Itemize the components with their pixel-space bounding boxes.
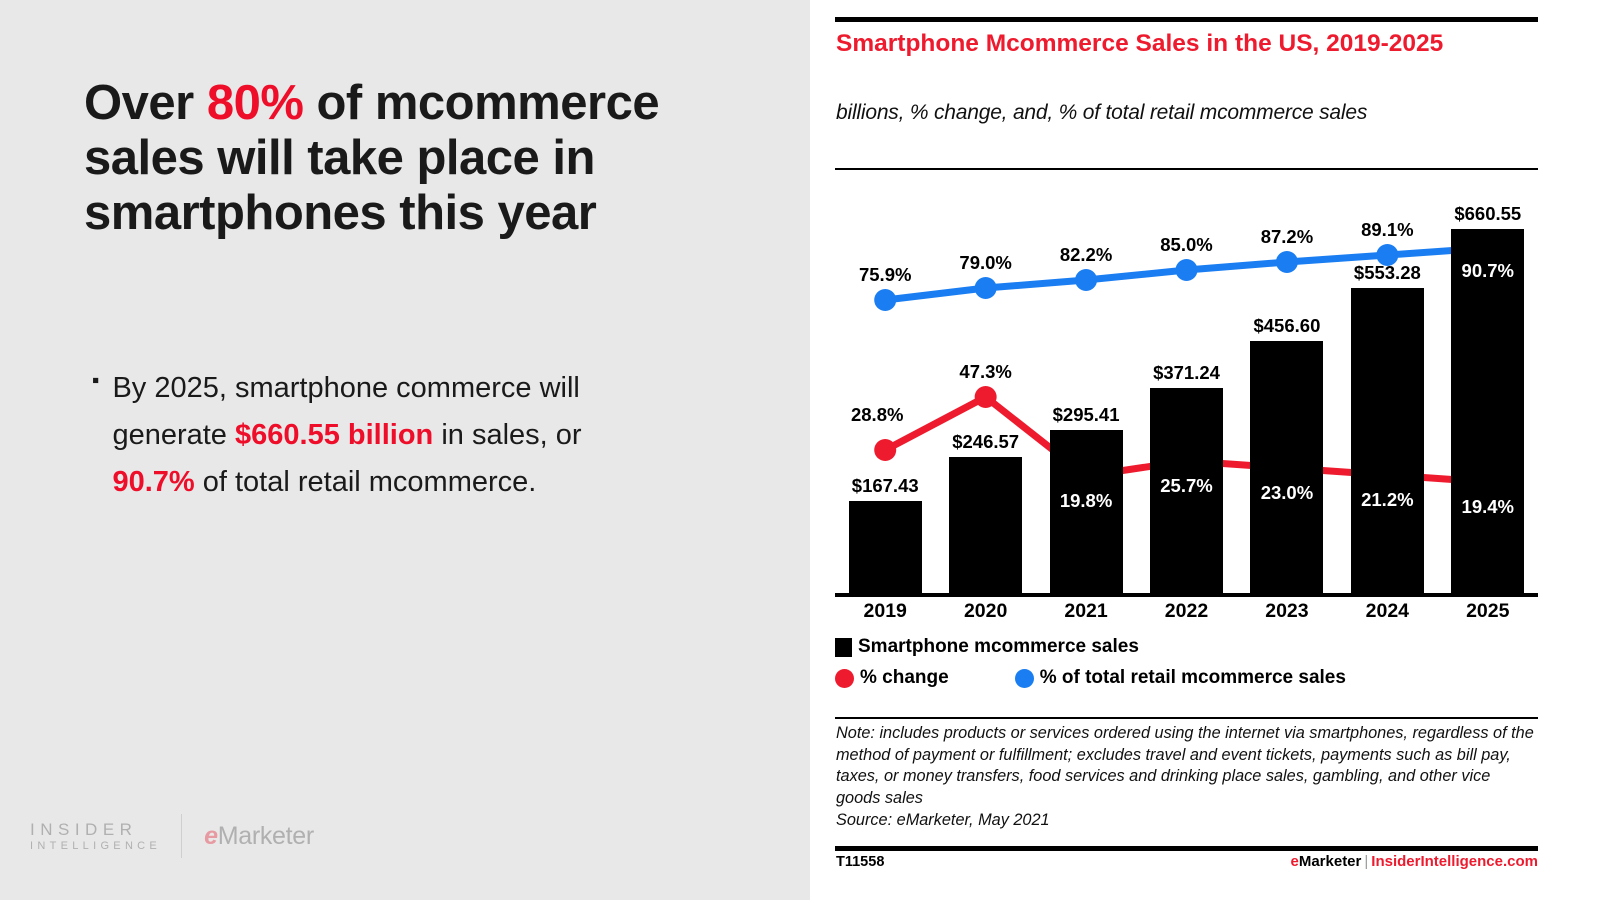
red-line-change-point-2020 <box>975 386 997 408</box>
divider-under-title <box>835 168 1538 170</box>
legend-row-lines: % change % of total retail mcommerce sal… <box>835 667 1538 689</box>
chart-panel: Smartphone Mcommerce Sales in the US, 20… <box>810 0 1600 900</box>
legend-dot-red-icon <box>835 669 854 688</box>
legend-dot-blue-icon <box>1015 669 1034 688</box>
change-label-2020: 47.3% <box>916 361 1056 383</box>
legend-label-sales: Smartphone mcommerce sales <box>858 636 1139 658</box>
chart-note-block: Note: includes products or services orde… <box>836 723 1536 831</box>
divider-footer <box>835 846 1538 851</box>
divider-top <box>835 17 1538 22</box>
blue-line-share-point-2019 <box>874 289 896 311</box>
chart-plot-area: $167.43$246.57$295.41$371.24$456.60$553.… <box>835 185 1538 597</box>
bar-2025 <box>1451 229 1524 593</box>
accent-text: 80% <box>207 76 304 130</box>
bar-2023 <box>1250 341 1323 593</box>
logo-emarketer-e: e <box>204 822 218 850</box>
bar-2019 <box>849 501 922 593</box>
brand-logo: INSIDER INTELLIGENCE eMarketer <box>30 814 314 858</box>
emarketer-logo: eMarketer <box>204 822 314 851</box>
left-content-panel: Over 80% of mcommerce sales will take pl… <box>0 0 810 900</box>
legend-item-change: % change <box>835 667 949 689</box>
blue-line-share-point-2021 <box>1075 269 1097 291</box>
legend-item-share: % of total retail mcommerce sales <box>1015 667 1346 689</box>
accent-text: $660.55 billion <box>235 419 433 451</box>
legend-label-share: % of total retail mcommerce sales <box>1040 667 1346 689</box>
insider-intelligence-logo: INSIDER INTELLIGENCE <box>30 819 161 854</box>
x-axis-line <box>835 593 1538 597</box>
logo-emarketer-name: Marketer <box>218 822 314 850</box>
blue-line-share-point-2023 <box>1276 251 1298 273</box>
chart-source: Source: eMarketer, May 2021 <box>836 810 1536 832</box>
legend-row-sales: Smartphone mcommerce sales <box>835 636 1538 658</box>
logo-intelligence-word: INTELLIGENCE <box>30 840 161 854</box>
change-label-2025: 19.4% <box>1418 496 1558 518</box>
page-headline: Over 80% of mcommerce sales will take pl… <box>84 76 744 241</box>
list-item: ▪ By 2025, smartphone commerce will gene… <box>92 365 692 506</box>
footer-brand: eMarketer|InsiderIntelligence.com <box>1290 853 1538 870</box>
bar-value-label-2019: $167.43 <box>815 475 955 497</box>
footer-brand-site: InsiderIntelligence.com <box>1371 853 1538 870</box>
logo-insider-word: INSIDER <box>30 819 161 840</box>
bar-value-label-2023: $456.60 <box>1217 315 1357 337</box>
legend-square-icon <box>835 638 852 657</box>
share-label-2025: 90.7% <box>1418 260 1558 282</box>
x-tick-2025: 2025 <box>1428 600 1548 623</box>
x-axis-tick-labels: 2019202020212022202320242025 <box>835 600 1538 630</box>
bullet-list: ▪ By 2025, smartphone commerce will gene… <box>92 365 692 506</box>
logo-divider <box>181 814 182 858</box>
footer-brand-e: e <box>1290 853 1298 870</box>
bar-value-label-2021: $295.41 <box>1016 404 1156 426</box>
change-label-2019: 28.8% <box>807 404 947 426</box>
bullet-marker-icon: ▪ <box>92 365 99 398</box>
bar-value-label-2022: $371.24 <box>1117 362 1257 384</box>
bullet-item-text: By 2025, smartphone commerce will genera… <box>112 365 657 506</box>
blue-line-share-point-2020 <box>975 277 997 299</box>
footer-brand-separator: | <box>1361 853 1371 870</box>
chart-footer: T11558 eMarketer|InsiderIntelligence.com <box>836 853 1538 870</box>
blue-line-share-point-2022 <box>1176 259 1198 281</box>
chart-title: Smartphone Mcommerce Sales in the US, 20… <box>836 30 1526 58</box>
chart-subtitle: billions, % change, and, % of total reta… <box>836 100 1526 126</box>
legend-label-change: % change <box>860 667 949 689</box>
bar-value-label-2020: $246.57 <box>916 431 1056 453</box>
divider-under-legend <box>835 717 1538 719</box>
chart-note: Note: includes products or services orde… <box>836 723 1536 810</box>
chart-legend: Smartphone mcommerce sales % change % of… <box>835 636 1538 698</box>
bar-2024 <box>1351 288 1424 593</box>
red-line-change-point-2019 <box>874 439 896 461</box>
footer-brand-name: Marketer <box>1299 853 1362 870</box>
bar-2020 <box>949 457 1022 593</box>
share-label-2024: 89.1% <box>1317 219 1457 241</box>
chart-id-label: T11558 <box>836 854 884 870</box>
accent-text: 90.7% <box>112 466 194 498</box>
